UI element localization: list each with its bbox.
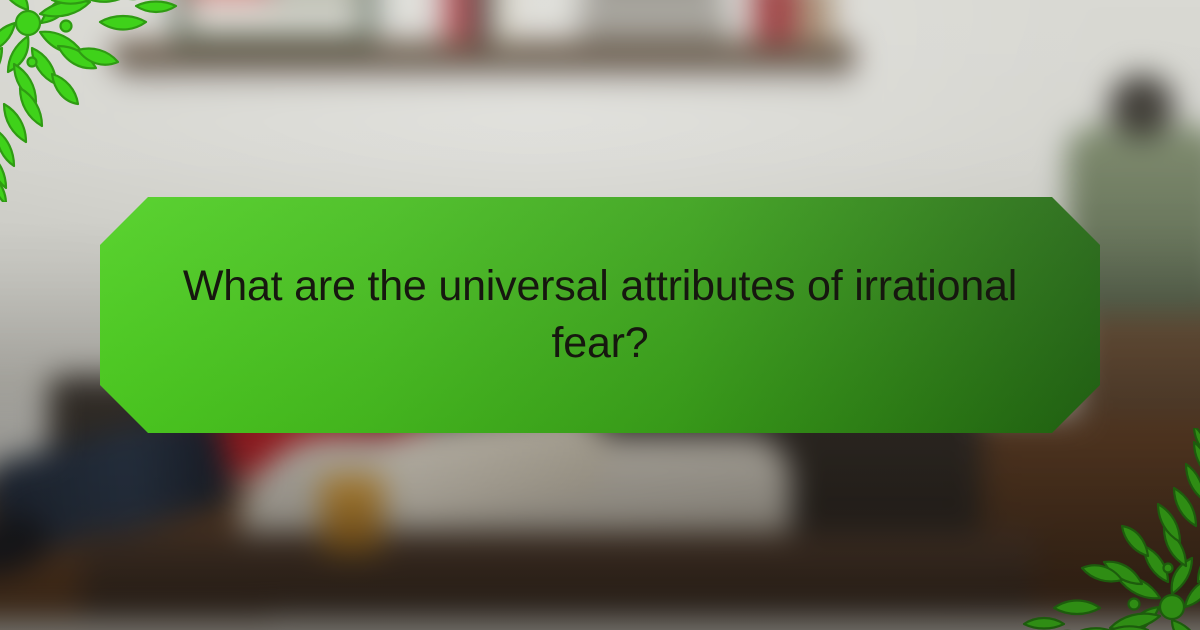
framed-picture-art-white bbox=[187, 2, 363, 32]
question-banner: What are the universal attributes of irr… bbox=[100, 197, 1100, 433]
book-tan bbox=[797, 0, 833, 43]
shelf-shadow bbox=[123, 66, 854, 94]
book-dark bbox=[474, 0, 491, 43]
question-card: What are the universal attributes of irr… bbox=[0, 0, 1200, 630]
question-text: What are the universal attributes of irr… bbox=[170, 258, 1030, 372]
book-red bbox=[443, 0, 475, 43]
coffee-table bbox=[81, 532, 1035, 617]
amber-glass bbox=[320, 474, 384, 557]
book-red-second bbox=[753, 0, 802, 43]
seated-person-head bbox=[1109, 74, 1175, 138]
book-cream bbox=[491, 0, 514, 43]
radio bbox=[579, 0, 727, 43]
